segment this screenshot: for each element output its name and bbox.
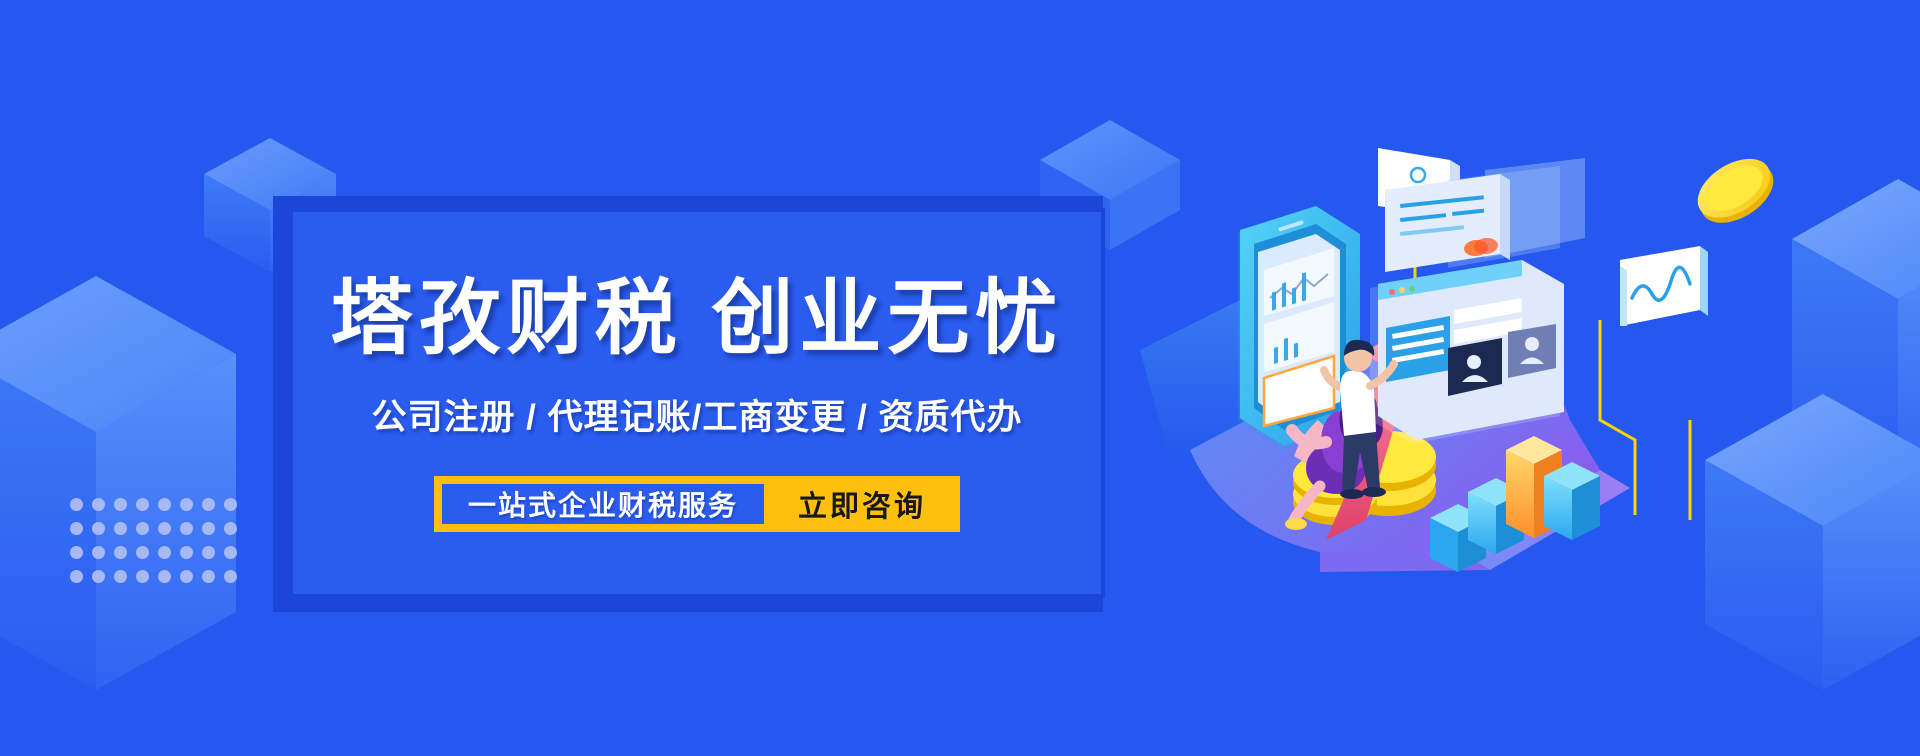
woman-figure-icon bbox=[1285, 391, 1383, 530]
coin-stack-icon bbox=[1293, 431, 1436, 525]
credit-card-float-icon bbox=[1385, 158, 1585, 272]
block-left-tall-icon bbox=[0, 270, 260, 690]
block-right-tall-icon bbox=[1790, 175, 1920, 505]
cta-bar[interactable]: 一站式企业财税服务 立即咨询 bbox=[434, 476, 960, 532]
banner-content: 塔孜财税 创业无忧 公司注册 / 代理记账/工商变更 / 资质代办 一站式企业财… bbox=[289, 208, 1105, 598]
services-subtitle: 公司注册 / 代理记账/工商变更 / 资质代办 bbox=[371, 389, 1022, 440]
line-chart-card-float-icon bbox=[1620, 246, 1708, 326]
consult-now-button[interactable]: 立即咨询 bbox=[764, 483, 960, 525]
man-figure-icon bbox=[1324, 340, 1394, 499]
gold-coin-right-icon bbox=[1690, 150, 1780, 230]
isometric-business-illustration bbox=[1130, 120, 1750, 590]
promo-banner: 塔孜财税 创业无忧 公司注册 / 代理记账/工商变更 / 资质代办 一站式企业财… bbox=[0, 0, 1920, 756]
avatar-card-float-icon bbox=[1378, 148, 1460, 222]
smartphone-icon bbox=[1238, 206, 1360, 450]
cta-tag-label: 一站式企业财税服务 bbox=[442, 484, 764, 524]
growth-arrow-icon bbox=[1326, 318, 1426, 540]
page-title: 塔孜财税 创业无忧 bbox=[331, 274, 1064, 364]
isometric-bar-chart-icon bbox=[1430, 436, 1600, 572]
dot-grid-pattern bbox=[70, 498, 246, 594]
block-right-bottom-icon bbox=[1705, 390, 1920, 690]
dashboard-window-icon bbox=[1370, 260, 1564, 444]
